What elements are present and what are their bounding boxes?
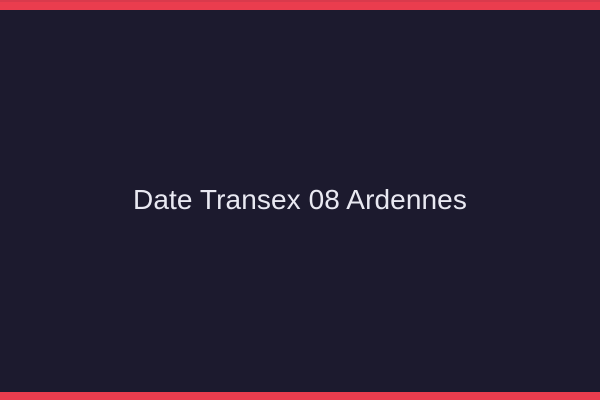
page-title: Date Transex 08 Ardennes xyxy=(133,183,467,217)
bottom-accent-bar xyxy=(0,392,600,400)
placeholder-banner-page: Date Transex 08 Ardennes xyxy=(0,0,600,400)
banner-stage: Date Transex 08 Ardennes xyxy=(0,10,600,392)
top-accent-bar xyxy=(0,0,600,10)
